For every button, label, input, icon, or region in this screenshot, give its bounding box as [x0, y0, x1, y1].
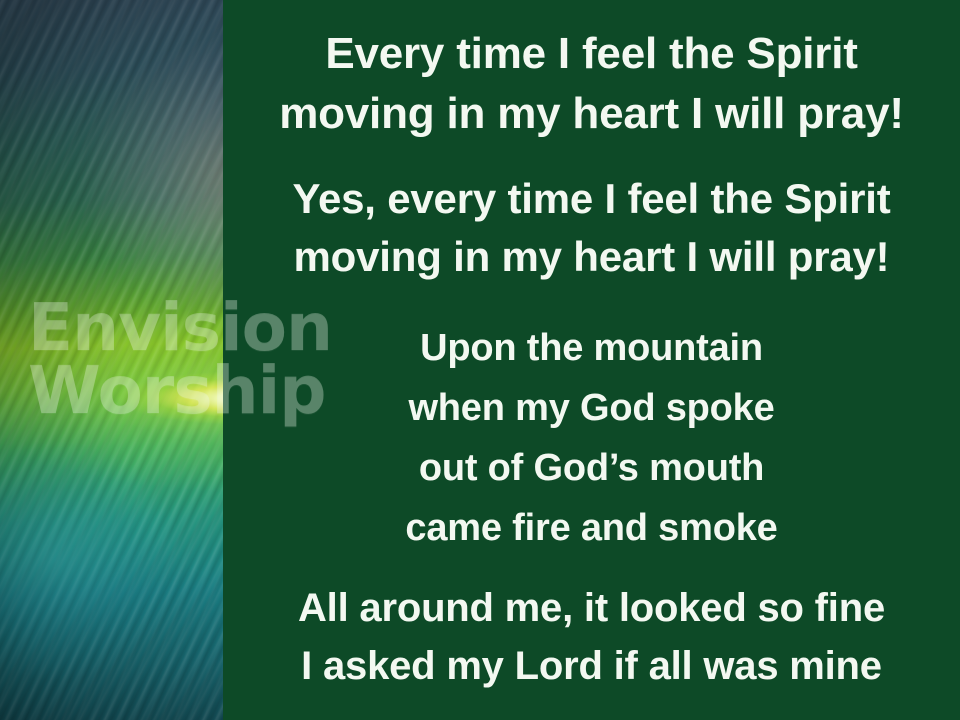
lyric-line: moving in my heart I will pray! — [223, 228, 960, 286]
lyric-line: when my God spoke — [223, 378, 960, 438]
lyric-stanza-1: Every time I feel the Spirit moving in m… — [223, 24, 960, 144]
lyrics-panel: Every time I feel the Spirit moving in m… — [223, 0, 960, 720]
artwork-vignette — [0, 0, 223, 720]
lyric-line: Every time I feel the Spirit — [223, 24, 960, 84]
lyric-line: I asked my Lord if all was mine — [223, 637, 960, 695]
song-lyric-slide: Envision Worship Every time I feel the S… — [0, 0, 960, 720]
lyric-stanza-4: All around me, it looked so fine I asked… — [223, 579, 960, 695]
lyric-stanza-2: Yes, every time I feel the Spirit moving… — [223, 170, 960, 286]
lyric-line: came fire and smoke — [223, 498, 960, 558]
lyric-line: Upon the mountain — [223, 318, 960, 378]
lyric-line: moving in my heart I will pray! — [223, 84, 960, 144]
lyric-stanza-3: Upon the mountain when my God spoke out … — [223, 318, 960, 558]
lyric-line: All around me, it looked so fine — [223, 579, 960, 637]
background-artwork-panel — [0, 0, 223, 720]
lyric-line: Yes, every time I feel the Spirit — [223, 170, 960, 228]
lyric-line: out of God’s mouth — [223, 438, 960, 498]
